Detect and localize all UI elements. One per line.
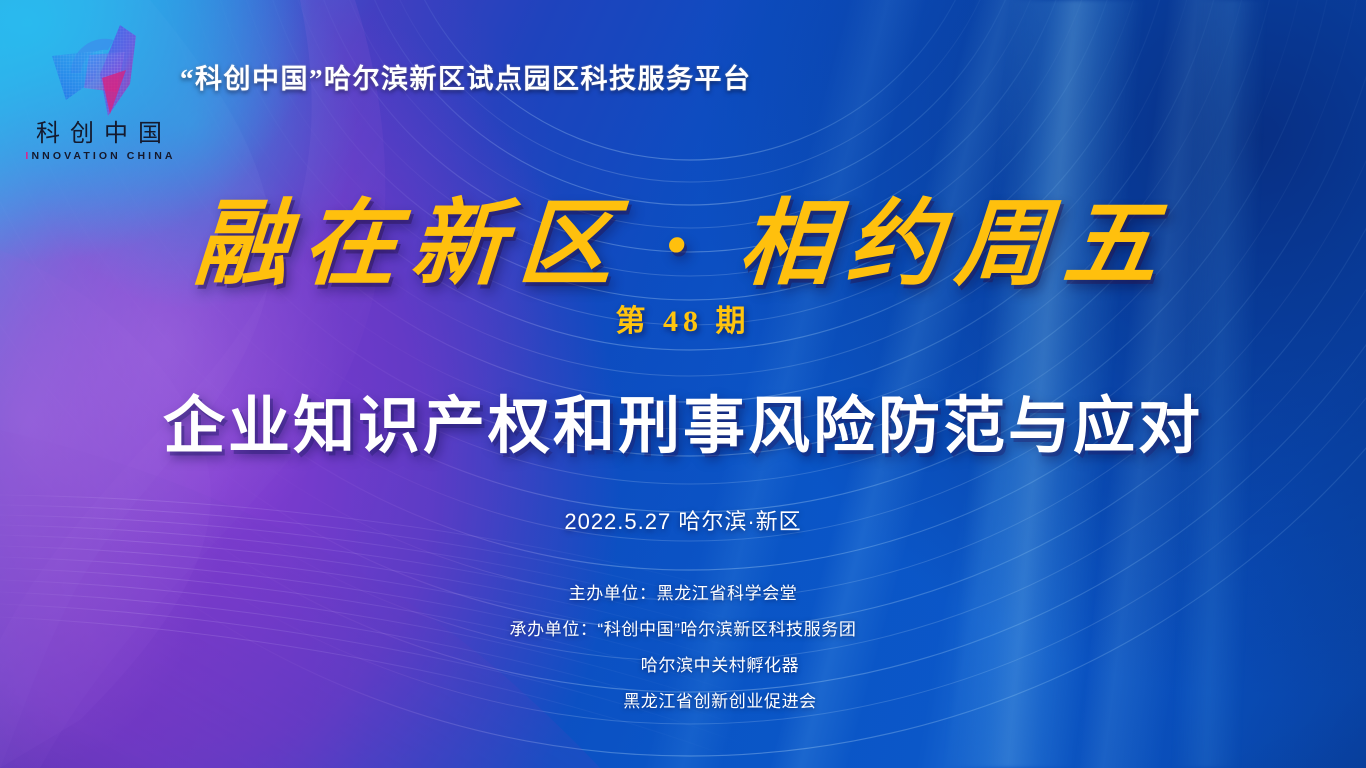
logo-english-name: INNOVATION CHINA: [16, 151, 182, 162]
topic-title: 企业知识产权和刑事风险防范与应对: [0, 375, 1366, 465]
issue-number: 第 48 期: [0, 296, 1366, 340]
organizer-line: 主办单位：黑龙江省科学会堂: [0, 585, 1366, 602]
logo-english-rest: NNOVATION CHINA: [31, 150, 175, 162]
logo-wordmark: 科创中国 INNOVATION CHINA: [16, 122, 182, 162]
event-poster: 科创中国 INNOVATION CHINA “科创中国”哈尔滨新区试点园区科技服…: [0, 0, 1366, 768]
organizer-line: 黑龙江省创新创业促进会: [0, 693, 1366, 710]
logo-chinese-name: 科创中国: [16, 122, 182, 146]
organizer-line: 哈尔滨中关村孵化器: [0, 657, 1366, 674]
organizer-block: 主办单位：黑龙江省科学会堂 承办单位：“科创中国”哈尔滨新区科技服务团 哈尔滨中…: [0, 585, 1366, 710]
innovation-china-logo: 科创中国 INNOVATION CHINA: [14, 22, 184, 162]
organizer-line: 承办单位：“科创中国”哈尔滨新区科技服务团: [0, 621, 1366, 638]
innovation-bird-mark-icon: [42, 22, 162, 122]
series-title: 融在新区 · 相约周五: [0, 196, 1366, 295]
event-date-location: 2022.5.27 哈尔滨·新区: [0, 504, 1366, 536]
platform-title: “科创中国”哈尔滨新区试点园区科技服务平台: [180, 57, 752, 96]
